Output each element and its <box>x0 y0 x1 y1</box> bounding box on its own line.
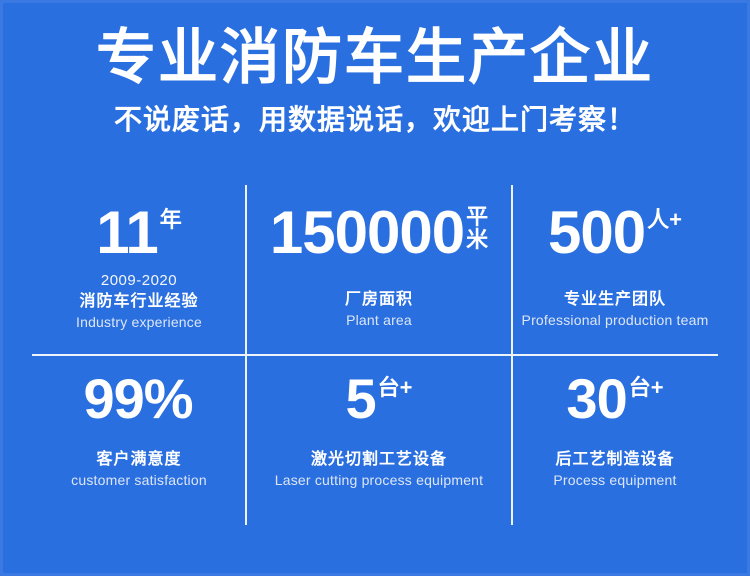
stat-cell-process-equipment: 30 台+ 后工艺制造设备 Process equipment <box>512 355 718 525</box>
stat-number: 5 <box>345 369 375 429</box>
stat-cell-plant-area: 150000 平 米 厂房面积 Plant area <box>246 185 512 355</box>
stat-label-zh: 后工艺制造设备 <box>553 449 676 471</box>
stat-number: 500 <box>548 201 645 265</box>
stat-number: 99% <box>83 369 192 429</box>
stat-number: 11 <box>96 201 157 265</box>
stat-cell-production-team: 500 人+ 专业生产团队 Professional production te… <box>512 185 718 355</box>
stat-number-line: 99% <box>83 369 194 429</box>
stat-number-line: 150000 平 米 <box>270 201 488 265</box>
stat-label-zh: 客户满意度 <box>71 449 207 471</box>
stat-cell-laser-cutting-equipment: 5 台+ 激光切割工艺设备 Laser cutting process equi… <box>246 355 512 525</box>
stat-captions: 厂房面积 Plant area <box>345 289 413 330</box>
stat-label-zh: 激光切割工艺设备 <box>275 449 484 471</box>
stat-captions: 2009-2020 消防车行业经验 Industry experience <box>76 271 202 332</box>
stat-unit-line-1: 平 <box>466 205 488 228</box>
page-title: 专业消防车生产企业 <box>0 22 750 94</box>
stat-label-en: Process equipment <box>553 471 676 490</box>
stat-label-zh: 厂房面积 <box>345 289 413 311</box>
stat-number: 30 <box>566 369 626 429</box>
stat-number-line: 30 台+ <box>566 369 663 429</box>
stats-row-bottom: 99% 客户满意度 customer satisfaction 5 台+ 激光切… <box>32 355 718 525</box>
stat-unit-line-2: 米 <box>466 228 488 251</box>
stat-label-en: Laser cutting process equipment <box>275 471 484 490</box>
stat-label-zh: 专业生产团队 <box>522 289 709 311</box>
stat-unit: 台+ <box>629 369 664 401</box>
stat-captions: 激光切割工艺设备 Laser cutting process equipment <box>275 449 484 490</box>
stat-unit: 人+ <box>647 201 682 233</box>
stat-captions: 专业生产团队 Professional production team <box>522 289 709 330</box>
stat-year-range: 2009-2020 <box>76 271 202 291</box>
stat-unit: 平 米 <box>466 201 488 251</box>
stat-captions: 后工艺制造设备 Process equipment <box>553 449 676 490</box>
stat-label-zh: 消防车行业经验 <box>76 291 202 313</box>
page-subtitle: 不说废话，用数据说话，欢迎上门考察！ <box>0 100 750 140</box>
promo-banner: 专业消防车生产企业 不说废话，用数据说话，欢迎上门考察！ 11 年 2009-2… <box>0 0 750 576</box>
stat-cell-industry-experience: 11 年 2009-2020 消防车行业经验 Industry experien… <box>32 185 246 355</box>
banner-header: 专业消防车生产企业 不说废话，用数据说话，欢迎上门考察！ <box>0 22 750 140</box>
stat-captions: 客户满意度 customer satisfaction <box>71 449 207 490</box>
stat-label-en: customer satisfaction <box>71 471 207 490</box>
stat-label-en: Plant area <box>345 311 413 330</box>
stat-cell-customer-satisfaction: 99% 客户满意度 customer satisfaction <box>32 355 246 525</box>
stat-unit: 台+ <box>378 369 413 401</box>
stat-number-line: 11 年 <box>96 201 181 265</box>
stat-number-line: 5 台+ <box>345 369 412 429</box>
stat-label-en: Industry experience <box>76 313 202 332</box>
stat-number: 150000 <box>270 201 464 265</box>
stat-unit: 年 <box>160 201 182 233</box>
stat-number-line: 500 人+ <box>548 201 682 265</box>
stat-label-en: Professional production team <box>522 311 709 330</box>
stats-row-top: 11 年 2009-2020 消防车行业经验 Industry experien… <box>32 185 718 355</box>
stats-grid: 11 年 2009-2020 消防车行业经验 Industry experien… <box>32 185 718 525</box>
